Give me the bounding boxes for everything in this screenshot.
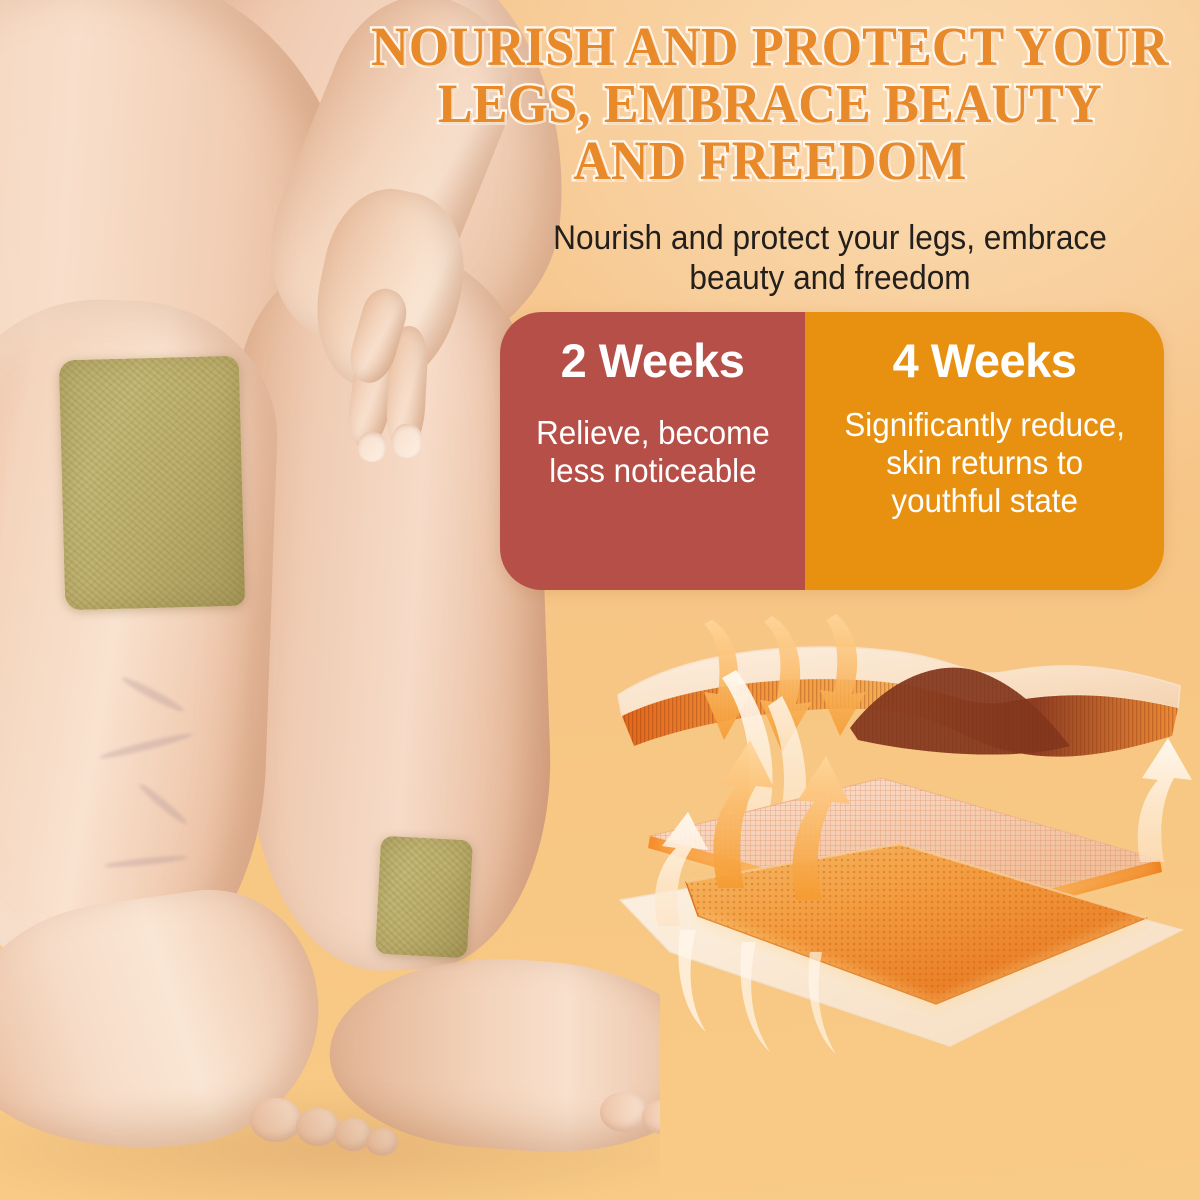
page-title-outline: NOURISH AND PROTECT YOUR LEGS, EMBRACE B…	[366, 18, 1174, 189]
ankle-patch	[375, 836, 473, 959]
results-timeline-card: 2 Weeks Relieve, become less noticeable …	[500, 312, 1164, 590]
skin-surface-layer	[618, 647, 1180, 757]
result-desc-line: less noticeable	[549, 452, 756, 489]
layered-patch-diagram	[600, 600, 1200, 1200]
result-description-2-weeks: Relieve, become less noticeable	[536, 414, 770, 490]
product-banner: NOURISH AND PROTECT YOUR LEGS, EMBRACE B…	[0, 0, 1200, 1200]
result-description-4-weeks: Significantly reduce, skin returns to yo…	[844, 406, 1125, 520]
result-desc-line: youthful state	[891, 482, 1077, 519]
result-desc-line: skin returns to	[886, 444, 1083, 481]
floor-shadow	[0, 1085, 660, 1200]
calf-patch	[59, 356, 245, 611]
result-panel-4-weeks: 4 Weeks Significantly reduce, skin retur…	[805, 312, 1164, 590]
headline-line-1: NOURISH AND PROTECT YOUR	[366, 18, 1174, 75]
page-subtitle: Nourish and protect your legs, embrace b…	[495, 218, 1165, 298]
headline-line-2: LEGS, EMBRACE BEAUTY	[366, 75, 1174, 132]
result-desc-line: Relieve, become	[536, 414, 770, 451]
subtitle-line-2: beauty and freedom	[495, 258, 1165, 298]
arrow-up-icon	[1138, 738, 1192, 862]
result-desc-line: Significantly reduce,	[844, 406, 1125, 443]
result-term-4-weeks: 4 Weeks	[893, 334, 1077, 388]
result-term-2-weeks: 2 Weeks	[561, 334, 745, 388]
headline-line-3: AND FREEDOM	[366, 132, 1174, 189]
result-panel-2-weeks: 2 Weeks Relieve, become less noticeable	[500, 312, 805, 590]
subtitle-line-1: Nourish and protect your legs, embrace	[495, 218, 1165, 258]
